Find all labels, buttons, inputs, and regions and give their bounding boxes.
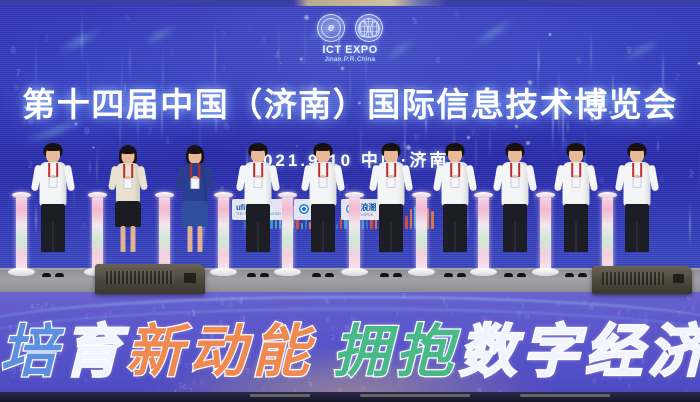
lanyard-left (571, 163, 573, 177)
expo-seal-icon: e (317, 14, 345, 42)
leg-right (198, 226, 203, 252)
edge-glint-2 (360, 394, 470, 397)
monitor-grille (602, 272, 664, 285)
podium-light-tube (349, 196, 360, 272)
lanyard-left (386, 163, 388, 177)
shoe-right (517, 273, 526, 277)
lanyard-left (510, 163, 512, 177)
shoe-right (578, 273, 587, 277)
shoe-left (312, 273, 321, 277)
rain-digit: 7 (15, 69, 20, 79)
person-official-6 (368, 144, 414, 274)
slogan-char: 能 (252, 306, 315, 388)
shoe-left (380, 273, 389, 277)
lanyard-left (190, 164, 192, 178)
stage-monitor-left (95, 264, 205, 294)
podium-light-tube (540, 196, 551, 272)
lanyard-right (579, 163, 581, 177)
lanyard-left (318, 163, 320, 177)
name-badge (511, 177, 520, 188)
shoe-left (247, 273, 256, 277)
un-globe-icon (355, 14, 383, 42)
name-badge (319, 177, 328, 188)
rain-digit: 7 (147, 127, 152, 137)
lanyard-right (326, 163, 328, 177)
hair-top (629, 144, 645, 151)
hair-top (121, 146, 136, 154)
monitor-handle (184, 273, 196, 283)
edge-glint-3 (520, 394, 610, 397)
trouser-gap (322, 222, 324, 252)
slogan-char: 数 (459, 306, 522, 388)
person-official-7 (432, 144, 478, 274)
expo-seal-letter: e (321, 18, 341, 38)
lanyard-right (458, 163, 460, 177)
lanyard-left (48, 163, 50, 177)
rain-digit: 2 (689, 170, 694, 180)
rain-digit: 4 (81, 222, 86, 232)
trouser-gap (390, 222, 392, 252)
conference-stage-photo: 2798470225600027700649847428592150048358… (0, 0, 700, 402)
launch-podium-7[interactable] (412, 196, 431, 272)
hair-top (507, 144, 523, 151)
person-official-9 (553, 144, 599, 274)
person-official-8 (492, 144, 538, 274)
hair-top (188, 146, 203, 154)
shoe-left (565, 273, 574, 277)
podium-light-tube (416, 196, 427, 272)
trouser-gap (514, 222, 516, 252)
leg-right (131, 226, 136, 252)
shoe-left (42, 273, 51, 277)
lanyard-left (632, 163, 634, 177)
slogan-char: 新 (126, 306, 189, 388)
light-spark (466, 135, 471, 140)
rain-digit: 1 (165, 136, 170, 146)
podium-touch-top[interactable] (345, 192, 364, 198)
slogan-char: 济 (648, 306, 700, 388)
slogan-char: 字 (522, 306, 585, 388)
person-official-4 (235, 144, 281, 274)
slogan-char: 育 (63, 306, 126, 388)
stage-monitor-right (592, 266, 692, 294)
person-official-1 (30, 144, 76, 274)
expo-emblems: e (0, 14, 700, 42)
hair-top (383, 144, 399, 151)
light-spark (340, 66, 345, 71)
slogan-char: 培 (0, 306, 63, 388)
leg-left (188, 226, 193, 252)
launch-podium-6[interactable] (345, 196, 364, 272)
name-badge (191, 178, 200, 189)
globe-grid (359, 18, 379, 38)
person-official-3 (172, 144, 218, 274)
lanyard-left (253, 163, 255, 177)
slogan-char: 经 (585, 306, 648, 388)
shoe-right (457, 273, 466, 277)
hair-top (568, 144, 584, 151)
person-official-5 (300, 144, 346, 274)
monitor-grille (106, 271, 174, 285)
stage-front-edge (0, 392, 700, 402)
skirt (182, 201, 208, 227)
rain-digit: 8 (599, 176, 604, 186)
banner-rain-digit: 6 (687, 294, 691, 302)
edge-glint-1 (250, 394, 310, 397)
trouser-gap (575, 222, 577, 252)
lanyard-right (640, 163, 642, 177)
launch-podium-1[interactable] (12, 196, 31, 272)
trouser-gap (454, 222, 456, 252)
name-badge (633, 177, 642, 188)
podium-light-tube (282, 196, 293, 272)
name-badge (254, 177, 263, 188)
expo-logo-subtitle: Jinan.P.R.China (0, 56, 700, 63)
slogan-char: 拥 (333, 306, 396, 388)
shoe-left (444, 273, 453, 277)
expo-logo-block: e ICT EXPO Jinan.P.R.China (0, 14, 700, 63)
podium-touch-top[interactable] (12, 192, 31, 198)
rain-digit: 7 (221, 65, 226, 75)
lanyard-right (518, 163, 520, 177)
rain-digit: 0 (84, 127, 89, 137)
podium-light-tube (92, 196, 103, 272)
expo-logo-name: ICT EXPO (0, 44, 700, 56)
lanyard-right (56, 163, 58, 177)
hair-top (45, 144, 61, 151)
podium-touch-top[interactable] (412, 192, 431, 198)
lanyard-left (123, 164, 125, 178)
trouser-gap (52, 222, 54, 252)
hair-top (447, 144, 463, 151)
leg-left (121, 226, 126, 252)
podium-light-tube (602, 196, 613, 272)
rain-streak (689, 201, 691, 248)
shoe-right (325, 273, 334, 277)
shoe-right (393, 273, 402, 277)
person-official-2 (105, 144, 151, 274)
podium-light-tube (218, 196, 229, 272)
lanyard-right (198, 164, 200, 178)
lanyard-left (450, 163, 452, 177)
person-official-10 (614, 144, 660, 274)
name-badge (572, 177, 581, 188)
hair-top (250, 144, 266, 151)
slogan-char: 抱 (396, 306, 459, 388)
name-badge (387, 177, 396, 188)
podium-light-tube (16, 196, 27, 272)
hair-top (315, 144, 331, 151)
trouser-gap (636, 222, 638, 252)
name-badge (124, 178, 133, 189)
rain-digit: 7 (470, 129, 475, 139)
podium-light-tube (159, 196, 170, 272)
slogan-char: 动 (189, 306, 252, 388)
skirt (115, 201, 141, 227)
monitor-handle (673, 274, 684, 283)
rain-digit: 0 (414, 133, 419, 143)
name-badge (451, 177, 460, 188)
shoe-right (260, 273, 269, 277)
lanyard-right (394, 163, 396, 177)
lanyard-right (261, 163, 263, 177)
trouser-gap (257, 222, 259, 252)
name-badge (49, 177, 58, 188)
event-slogan-calligraphy: 培育新动能 拥抱数字经济新 (0, 306, 700, 388)
shoe-left (504, 273, 513, 277)
event-main-title: 第十四届中国（济南）国际信息技术博览会 (0, 78, 700, 126)
lanyard-right (131, 164, 133, 178)
shoe-right (55, 273, 64, 277)
podium-light-tube (478, 196, 489, 272)
